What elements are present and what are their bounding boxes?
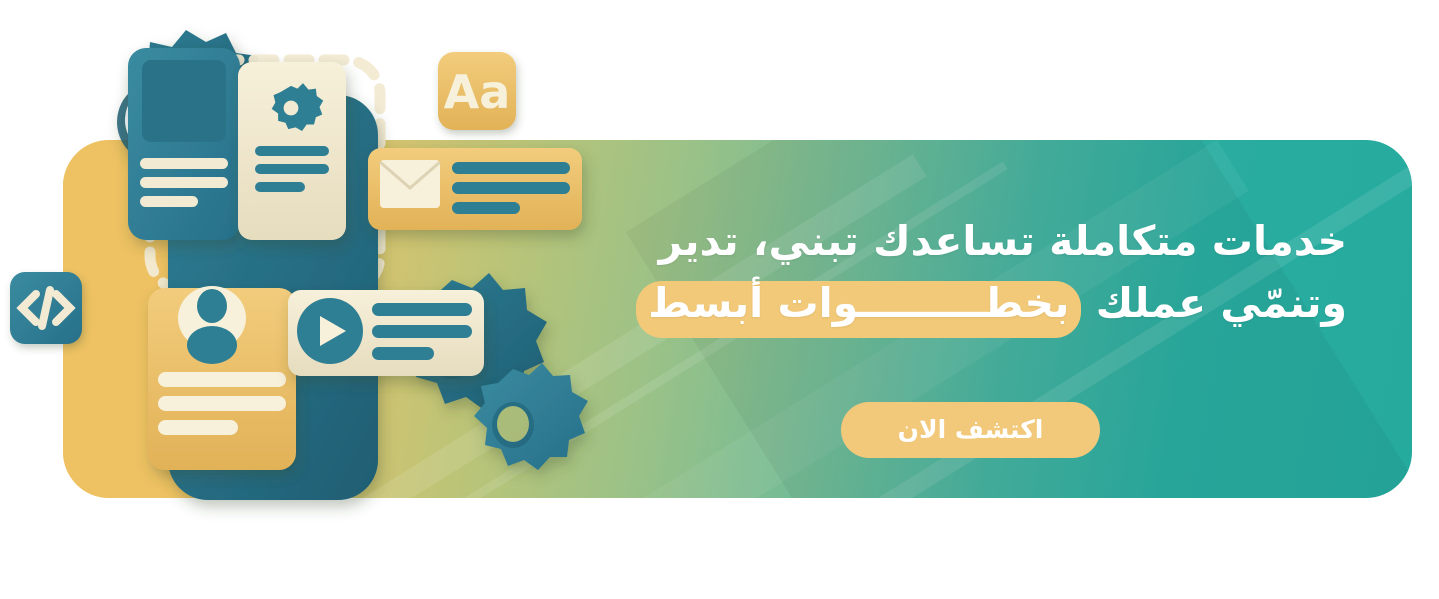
discover-now-button[interactable]: اكتشف الان (841, 402, 1100, 458)
headline-line-1: خدمات متكاملة تساعدك تبني، تدير (587, 210, 1347, 272)
envelope-icon (380, 160, 440, 208)
code-tile (10, 272, 82, 344)
page-title: خدمات متكاملة تساعدك تبني، تدير وتنمّي ع… (587, 210, 1347, 335)
profile-card (148, 286, 296, 470)
hero-copy: خدمات متكاملة تساعدك تبني، تدير وتنمّي ع… (587, 210, 1347, 335)
headline-line-2: وتنمّي عملك بخطـــــــــوات أبسط (587, 272, 1347, 334)
device-card (128, 48, 240, 240)
mail-card (368, 148, 582, 230)
hero-illustration: Aa (0, 0, 660, 599)
typography-tile: Aa (438, 52, 516, 130)
typography-tile-label: Aa (444, 65, 511, 119)
play-icon (297, 298, 363, 364)
headline-highlight: بخطـــــــــوات أبسط (636, 272, 1081, 334)
settings-card (238, 62, 346, 240)
screenshot-root: Aa (0, 0, 1439, 599)
headline-line-2-prefix: وتنمّي عملك (1081, 279, 1347, 327)
media-card (288, 290, 484, 376)
